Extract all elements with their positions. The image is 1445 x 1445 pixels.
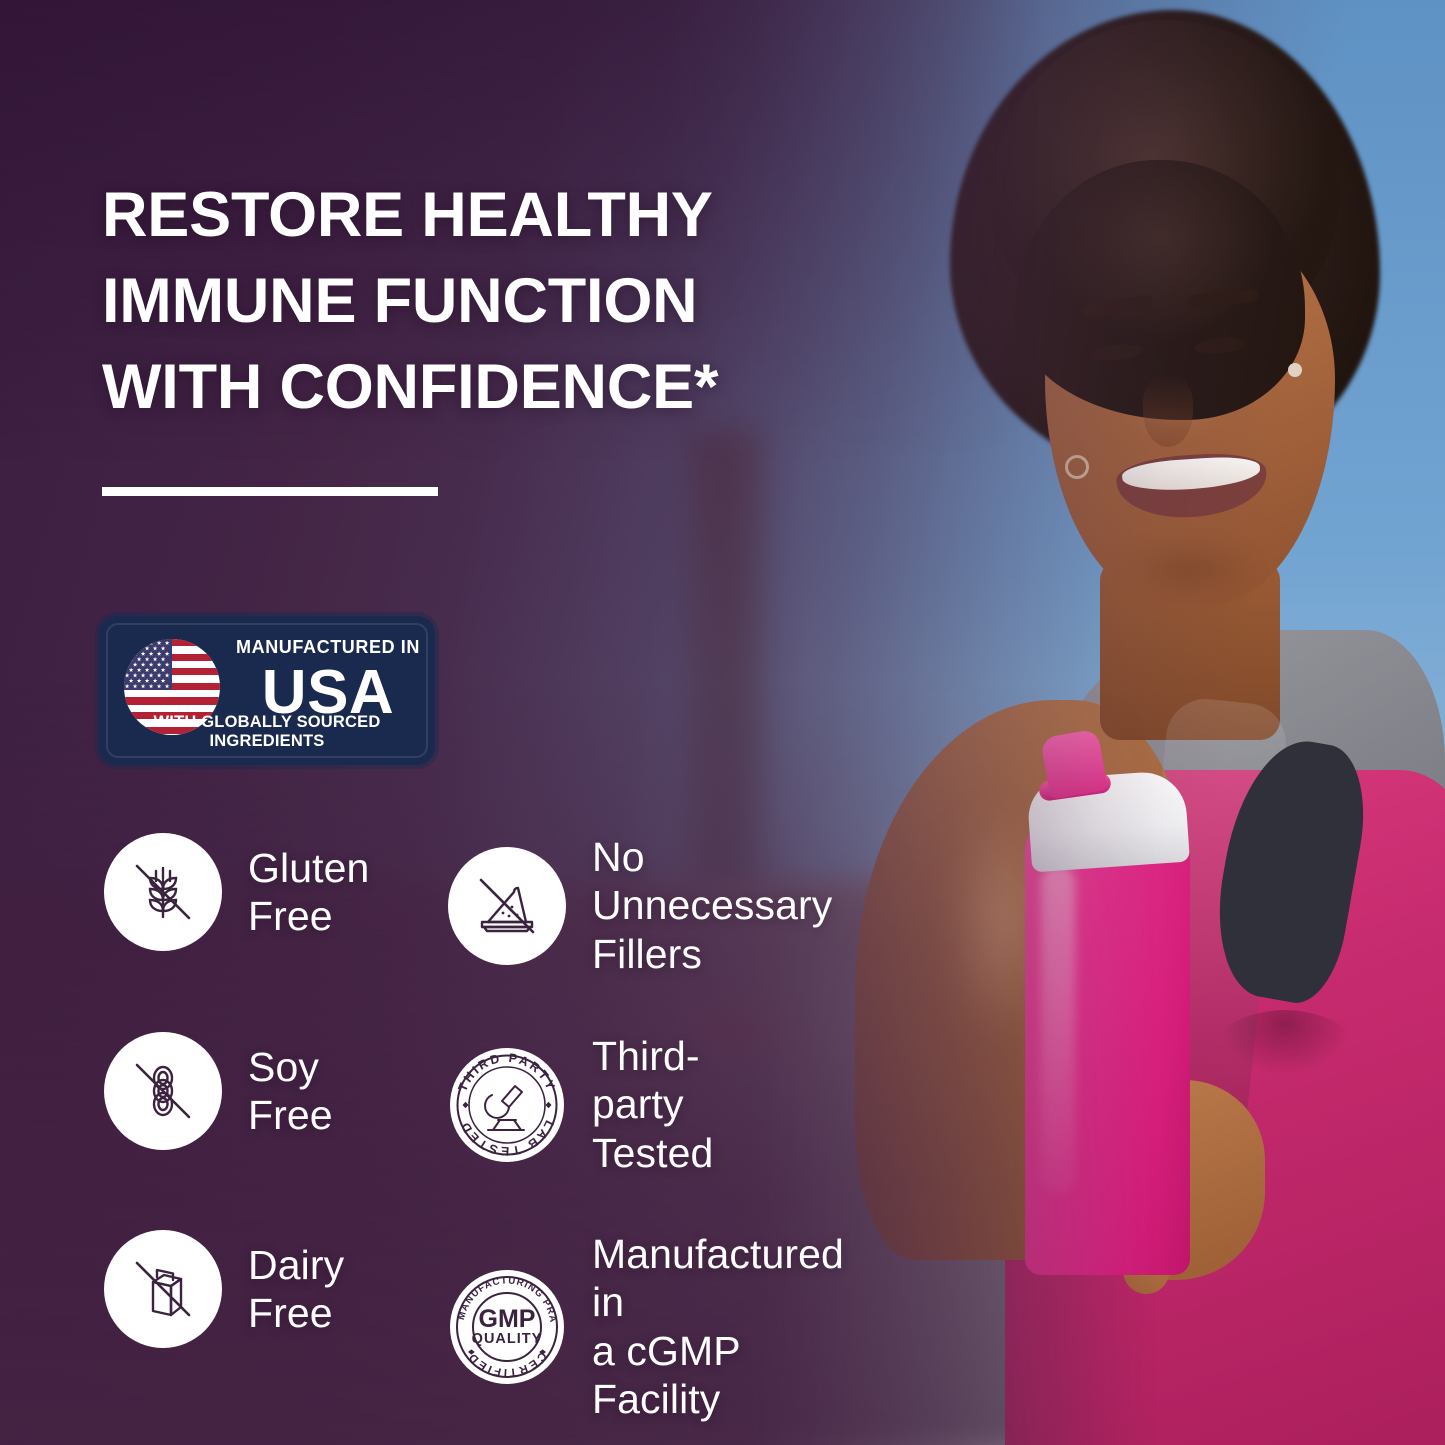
content-layer: RESTORE HEALTHY IMMUNE FUNCTION WITH CON… [0, 0, 1445, 1445]
svg-text:GMP: GMP [479, 1305, 536, 1333]
feature-gluten-free: Gluten Free [104, 833, 369, 951]
feature-label: Gluten Free [248, 844, 369, 941]
feature-no-fillers: No Unnecessary Fillers [448, 833, 832, 978]
milk-carton-crossed-out-icon [104, 1230, 222, 1348]
gmp-certified-seal-icon: GOOD MANUFACTURING PRACTICE CERTIFIED GM… [448, 1268, 566, 1386]
headline-line-3: WITH CONFIDENCE* [102, 345, 902, 431]
soybean-crossed-out-icon [104, 1032, 222, 1150]
feature-third-party-tested: THIRD PARTY LAB TESTED [448, 1032, 713, 1177]
promotional-banner: RESTORE HEALTHY IMMUNE FUNCTION WITH CON… [0, 0, 1445, 1445]
badge-text-block: MANUFACTURED IN USA [235, 638, 421, 724]
badge-bottom-text: WITH GLOBALLY SOURCED INGREDIENTS [99, 713, 435, 751]
wheat-crossed-out-icon [104, 833, 222, 951]
powder-pile-crossed-out-icon [448, 847, 566, 965]
manufactured-in-usa-badge: MANUFACTURED IN USA WITH GLOBALLY SOURCE… [99, 616, 435, 765]
feature-label: Dairy Free [248, 1241, 344, 1338]
third-party-lab-tested-seal-icon: THIRD PARTY LAB TESTED [448, 1046, 566, 1164]
badge-top-text: MANUFACTURED IN [235, 638, 421, 656]
feature-label: Soy Free [248, 1043, 333, 1140]
feature-soy-free: Soy Free [104, 1032, 333, 1150]
feature-cgmp-facility: GOOD MANUFACTURING PRACTICE CERTIFIED GM… [448, 1230, 844, 1424]
divider-rule [102, 487, 438, 496]
page-title: RESTORE HEALTHY IMMUNE FUNCTION WITH CON… [102, 173, 902, 430]
svg-text:QUALITY: QUALITY [472, 1331, 543, 1347]
feature-label: Third-party Tested [592, 1032, 713, 1177]
feature-dairy-free: Dairy Free [104, 1230, 344, 1348]
headline-line-1: RESTORE HEALTHY [102, 173, 902, 259]
feature-label: Manufactured in a cGMP Facility [592, 1230, 844, 1424]
feature-label: No Unnecessary Fillers [592, 833, 832, 978]
headline-line-2: IMMUNE FUNCTION [102, 259, 902, 345]
